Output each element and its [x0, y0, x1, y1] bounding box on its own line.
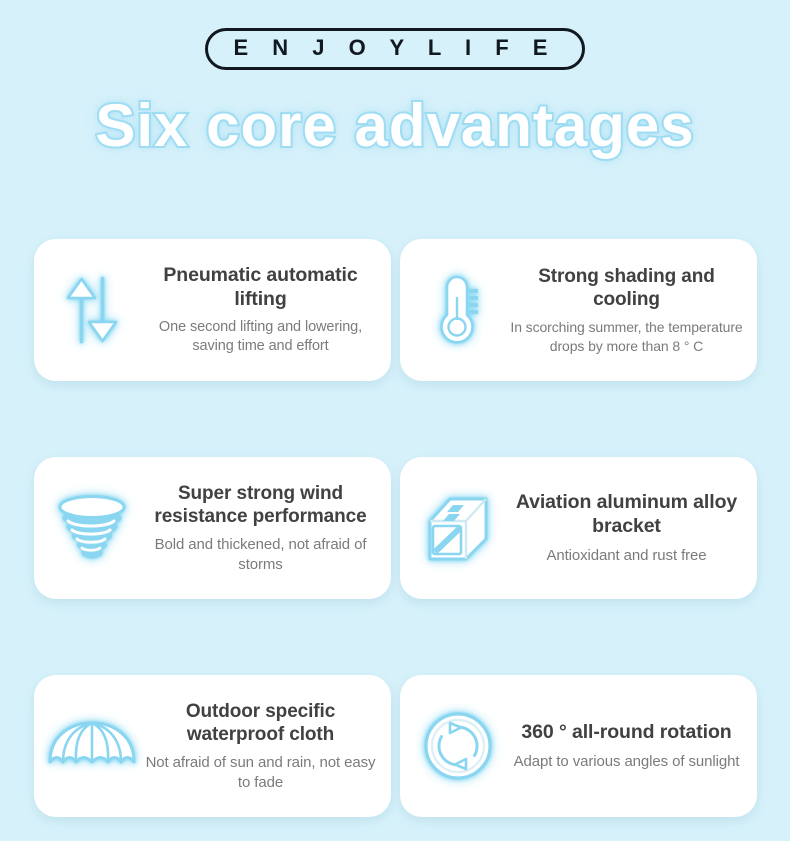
text-container: Strong shading and cooling In scorching … [510, 265, 747, 355]
card-description: Not afraid of sun and rain, not easy to … [144, 753, 377, 792]
advantage-card-shading-cooling[interactable]: Strong shading and cooling In scorching … [400, 239, 757, 381]
card-description: In scorching summer, the temperature dro… [510, 318, 743, 354]
umbrella-icon [46, 718, 138, 774]
card-description: Adapt to various angles of sunlight [510, 752, 743, 772]
text-container: 360 ° all-round rotation Adapt to variou… [510, 721, 747, 771]
text-container: Super strong wind resistance performance… [144, 482, 381, 574]
tornado-icon [53, 493, 131, 563]
up-down-arrows-icon [61, 276, 123, 344]
icon-container [40, 276, 144, 344]
card-description: Bold and thickened, not afraid of storms [144, 535, 377, 574]
aluminum-bracket-icon [422, 493, 494, 563]
page-title: Six core advantages [0, 96, 790, 156]
card-title: Strong shading and cooling [510, 265, 743, 311]
advantage-card-360-rotation[interactable]: 360 ° all-round rotation Adapt to variou… [400, 675, 757, 817]
icon-container [40, 718, 144, 774]
text-container: Pneumatic automatic lifting One second l… [144, 264, 381, 356]
icon-container [406, 493, 510, 563]
card-title: 360 ° all-round rotation [510, 721, 743, 745]
card-title: Super strong wind resistance performance [144, 482, 377, 528]
enjoy-life-badge: E N J O Y L I F E [205, 28, 586, 70]
icon-container [40, 493, 144, 563]
advantage-card-aluminum-bracket[interactable]: Aviation aluminum alloy bracket Antioxid… [400, 457, 757, 599]
text-container: Outdoor specific waterproof cloth Not af… [144, 700, 381, 792]
advantages-grid: Pneumatic automatic lifting One second l… [34, 239, 757, 817]
thermometer-icon [431, 275, 485, 345]
advantage-card-wind-resistance[interactable]: Super strong wind resistance performance… [34, 457, 391, 599]
advantage-card-pneumatic-lifting[interactable]: Pneumatic automatic lifting One second l… [34, 239, 391, 381]
icon-container [406, 711, 510, 781]
advantage-card-waterproof-cloth[interactable]: Outdoor specific waterproof cloth Not af… [34, 675, 391, 817]
card-title: Outdoor specific waterproof cloth [144, 700, 377, 746]
card-description: Antioxidant and rust free [510, 546, 743, 566]
card-description: One second lifting and lowering, saving … [144, 318, 377, 356]
rotation-360-icon [423, 711, 493, 781]
icon-container [406, 275, 510, 345]
badge-container: E N J O Y L I F E [0, 0, 790, 70]
text-container: Aviation aluminum alloy bracket Antioxid… [510, 491, 747, 565]
card-title: Aviation aluminum alloy bracket [510, 491, 743, 539]
card-title: Pneumatic automatic lifting [144, 264, 377, 312]
